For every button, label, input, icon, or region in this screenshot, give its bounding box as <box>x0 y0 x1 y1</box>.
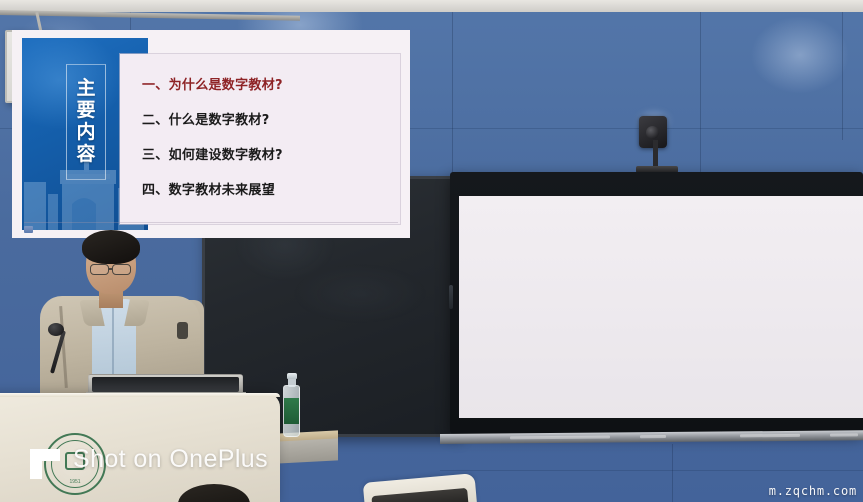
camera-watermark: Shot on OnePlus <box>73 445 268 474</box>
slide-agenda-list: 一、为什么是数字教材? 二、什么是数字教材? 三、如何建设数字教材? 四、数字教… <box>142 74 390 198</box>
side-table-front <box>276 438 338 463</box>
slide-footer <box>24 222 398 233</box>
lecture-hall-scene: 主 要 内 容 一、为什么是数字教材? 二、什么是数字教材? 三、如何建设数字教… <box>0 0 863 502</box>
microphone-head-icon <box>48 323 64 336</box>
ceiling <box>0 0 863 12</box>
presenter-glasses-left-lens <box>90 264 109 275</box>
presenter-glasses-right-lens <box>112 264 131 275</box>
laptop-screen-back <box>92 377 239 392</box>
slide-title-char-4: 容 <box>76 145 95 165</box>
slide-title-char-3: 内 <box>76 123 95 143</box>
site-watermark: m.zqchm.com <box>769 484 857 498</box>
display-vent <box>640 435 666 438</box>
slide-title-char-1: 主 <box>76 79 95 99</box>
camera-lens-icon <box>646 126 659 139</box>
presentation-slide: 主 要 内 容 一、为什么是数字教材? 二、什么是数字教材? 三、如何建设数字教… <box>12 30 410 238</box>
display-side-button[interactable] <box>449 285 453 309</box>
oneplus-logo-icon <box>30 449 60 479</box>
wall-seam <box>452 10 453 176</box>
slide-agenda-item-1: 一、为什么是数字教材? <box>142 74 390 93</box>
water-bottle-label <box>284 398 299 424</box>
wall-seam <box>672 444 673 502</box>
slide-agenda-item-3: 三、如何建设数字教材? <box>142 144 390 163</box>
wall-seam <box>842 8 843 140</box>
presenter-sleeve-patch <box>177 322 188 339</box>
slide-content-card: 一、为什么是数字教材? 二、什么是数字教材? 三、如何建设数字教材? 四、数字教… <box>120 54 400 224</box>
slide-footer-logo-icon <box>24 226 33 233</box>
interactive-display[interactable] <box>450 172 863 434</box>
podium-top-edge <box>0 393 280 397</box>
presenter-hair <box>82 230 140 264</box>
crest-year: 1951 <box>69 479 80 485</box>
slide-vertical-title: 主 要 内 容 <box>66 64 106 180</box>
display-panel <box>459 196 863 418</box>
display-vent <box>830 433 858 436</box>
slide-title-char-2: 要 <box>76 101 95 121</box>
slide-agenda-item-2: 二、什么是数字教材? <box>142 109 390 128</box>
presenter-shirt-placket <box>112 308 114 380</box>
display-vent <box>740 434 800 438</box>
slide-agenda-item-4: 四、数字教材未来展望 <box>142 179 390 198</box>
presenter-glasses-bridge <box>109 268 113 270</box>
water-bottle-cap <box>287 373 297 379</box>
display-vent <box>510 436 610 440</box>
camera-arm <box>653 140 658 168</box>
wall-seam <box>440 470 863 471</box>
